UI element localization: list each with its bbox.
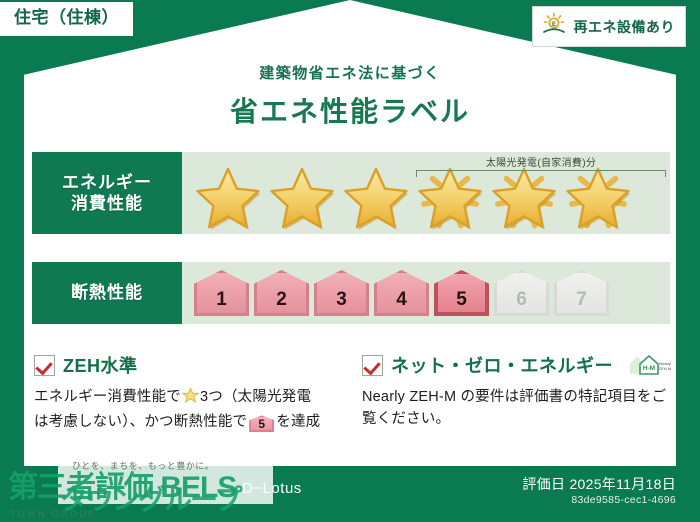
insulation-level-3: 3 bbox=[314, 270, 369, 316]
energy-performance-label: エネルギー 消費性能 bbox=[32, 152, 182, 234]
energy-performance-row: エネルギー 消費性能 太陽光発電(自家消費)分 bbox=[32, 152, 670, 234]
energy-star-icon bbox=[340, 162, 412, 232]
sun-icon: E bbox=[541, 12, 567, 41]
insulation-level-1: 1 bbox=[194, 270, 249, 316]
insulation-level-scale: 1234567 bbox=[182, 270, 609, 316]
energy-label-line2: 消費性能 bbox=[71, 193, 143, 214]
criteria-nze-body: Nearly ZEH-M の要件は評価書の特記項目をご覧ください。 bbox=[362, 386, 674, 431]
check-icon-nze bbox=[362, 355, 383, 376]
insulation-level-2: 2 bbox=[254, 270, 309, 316]
criteria-zeh-body: エネルギー消費性能で 3つ（太陽光発電 は考慮しない）、かつ断熱性能で5を達成 bbox=[34, 386, 344, 434]
energy-star-icon bbox=[266, 162, 338, 232]
evaluation-id: 83de9585-cec1-4696 bbox=[571, 494, 676, 506]
criteria-net-zero-energy: ネット・ゼロ・エネルギー H-M Nearly ZEH-M Nearly ZEH… bbox=[362, 352, 674, 431]
inline-star-icon bbox=[182, 387, 199, 411]
insulation-performance-label: 断熱性能 bbox=[32, 262, 182, 324]
zeh-m-logo-icon: H-M Nearly ZEH-M bbox=[627, 352, 673, 378]
label-main-title: 省エネ性能ラベル bbox=[0, 90, 700, 130]
check-icon-zeh bbox=[34, 355, 55, 376]
criteria-nze-title: ネット・ゼロ・エネルギー bbox=[391, 352, 613, 378]
label-subtitle: 建築物省エネ法に基づく bbox=[0, 62, 700, 83]
insulation-level-6: 6 bbox=[494, 270, 549, 316]
zeh-body-part1: エネルギー消費性能で bbox=[34, 389, 181, 405]
svg-text:E: E bbox=[551, 22, 555, 28]
solar-annotation: 太陽光発電(自家消費)分 bbox=[416, 154, 666, 177]
solar-annotation-text: 太陽光発電(自家消費)分 bbox=[416, 154, 666, 169]
insulation-level-7: 7 bbox=[554, 270, 609, 316]
solar-annotation-bracket bbox=[416, 170, 666, 177]
criteria-zeh-header: ZEH水準 bbox=[34, 352, 344, 378]
zeh-body-part2: 3つ（太陽光発電 bbox=[200, 389, 311, 405]
svg-text:ZEH-M: ZEH-M bbox=[659, 366, 672, 371]
inline-insulation-badge: 5 bbox=[249, 415, 274, 432]
renewable-badge-label: 再エネ設備あり bbox=[574, 17, 676, 37]
insulation-performance-body: 1234567 bbox=[182, 262, 670, 324]
svg-text:H-M: H-M bbox=[643, 365, 655, 372]
insulation-performance-row: 断熱性能 1234567 bbox=[32, 262, 670, 324]
document-type-chip: 住宅（住棟） bbox=[0, 2, 133, 36]
zeh-body-part4: を達成 bbox=[276, 414, 320, 430]
renewable-equipment-badge: E 再エネ設備あり bbox=[532, 6, 687, 47]
title-block: 建築物省エネ法に基づく 省エネ性能ラベル bbox=[0, 62, 700, 130]
criteria-zeh-standard: ZEH水準 エネルギー消費性能で 3つ（太陽光発電 は考慮しない）、かつ断熱性能… bbox=[34, 352, 344, 434]
energy-star-icon bbox=[192, 162, 264, 232]
building-name: D−Lotus bbox=[242, 480, 302, 497]
evaluation-date: 評価日 2025年11月18日 bbox=[522, 474, 676, 494]
insulation-level-4: 4 bbox=[374, 270, 429, 316]
zeh-body-part3: は考慮しない）、かつ断熱性能で bbox=[34, 414, 247, 430]
energy-performance-body: 太陽光発電(自家消費)分 bbox=[182, 152, 670, 234]
insulation-level-5: 5 bbox=[434, 270, 489, 316]
label-footer: D−Lotus 評価日 2025年11月18日 83de9585-cec1-46… bbox=[0, 466, 700, 522]
criteria-nze-header: ネット・ゼロ・エネルギー H-M Nearly ZEH-M bbox=[362, 352, 674, 378]
energy-label-line1: エネルギー bbox=[62, 172, 152, 193]
criteria-zeh-title: ZEH水準 bbox=[63, 352, 138, 378]
